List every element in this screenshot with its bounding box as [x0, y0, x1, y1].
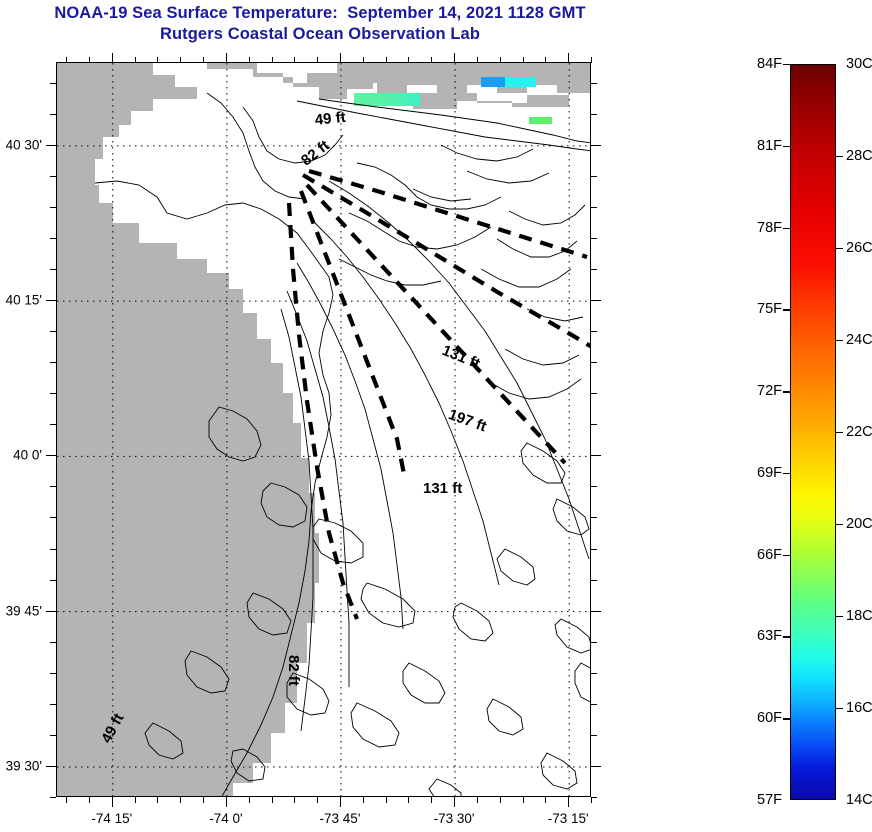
x-tick — [523, 57, 524, 63]
y-tick — [50, 735, 56, 736]
y-axis-label: 40 0' — [0, 448, 42, 463]
colorbar-celsius-label: 20C — [846, 516, 872, 532]
y-tick — [50, 580, 56, 581]
x-tick — [408, 797, 409, 803]
x-axis-label: -74 15' — [91, 811, 132, 826]
colorbar-celsius-label: 14C — [846, 792, 872, 808]
title-line-1: NOAA-19 Sea Surface Temperature: Septemb… — [0, 3, 640, 24]
x-axis-label: -74 0' — [209, 811, 242, 826]
x-tick — [180, 797, 181, 803]
x-tick — [294, 57, 295, 63]
x-tick — [135, 797, 136, 803]
colorbar-tick — [783, 718, 790, 719]
colorbar-tick — [836, 156, 843, 157]
colorbar-tick — [836, 248, 843, 249]
colorbar-tick — [836, 432, 843, 433]
y-tick — [591, 176, 597, 177]
colorbar-fahrenheit-label: 69F — [757, 465, 782, 481]
y-tick — [591, 83, 597, 84]
y-tick — [591, 486, 597, 487]
x-tick — [226, 797, 227, 807]
x-tick — [545, 57, 546, 63]
colorbar-celsius-label: 30C — [846, 56, 872, 72]
x-axis-ticks-top — [56, 51, 591, 63]
y-tick — [591, 797, 597, 798]
y-tick — [50, 238, 56, 239]
sst-colorbar: 30C28C26C24C22C20C18C16C14C 84F81F78F75F… — [790, 64, 836, 800]
y-tick — [591, 145, 601, 146]
sst-patch-central-sound — [505, 77, 536, 87]
y-tick — [591, 114, 597, 115]
x-tick — [477, 797, 478, 803]
y-tick — [46, 611, 56, 612]
y-tick — [46, 766, 56, 767]
y-tick — [50, 83, 56, 84]
x-tick — [66, 797, 67, 803]
chart-title: NOAA-19 Sea Surface Temperature: Septemb… — [0, 3, 640, 45]
x-tick — [272, 797, 273, 803]
colorbar-fahrenheit-label: 60F — [757, 710, 782, 726]
sst-patch-eastern-small — [529, 117, 552, 124]
colorbar-celsius-label: 28C — [846, 148, 872, 164]
colorbar-celsius-label: 16C — [846, 700, 872, 716]
y-tick — [591, 362, 597, 363]
x-axis-label: -73 30' — [434, 811, 475, 826]
y-tick — [50, 207, 56, 208]
sst-patch-western-sound — [481, 77, 505, 87]
x-tick — [226, 53, 227, 63]
cloud-edge-lines — [289, 171, 590, 619]
y-tick — [591, 642, 597, 643]
y-tick — [50, 362, 56, 363]
y-tick — [50, 176, 56, 177]
x-axis-ticks — [56, 797, 591, 809]
x-tick — [477, 57, 478, 63]
colorbar-tick — [836, 708, 843, 709]
colorbar-tick — [783, 309, 790, 310]
y-axis-ticks — [44, 62, 56, 797]
y-tick — [50, 704, 56, 705]
y-axis-ticks-right — [591, 62, 603, 797]
colorbar-fahrenheit-label: 66F — [757, 547, 782, 563]
colorbar-celsius-label: 22C — [846, 424, 872, 440]
x-tick — [523, 797, 524, 803]
x-tick — [112, 797, 113, 807]
y-tick — [591, 238, 597, 239]
x-tick — [317, 57, 318, 63]
y-tick — [591, 517, 597, 518]
x-tick — [363, 797, 364, 803]
colorbar-fahrenheit-label: 57F — [757, 792, 782, 808]
colorbar-celsius-label: 18C — [846, 608, 872, 624]
y-tick — [50, 673, 56, 674]
colorbar-tick — [783, 636, 790, 637]
x-tick — [454, 53, 455, 63]
x-tick — [66, 57, 67, 63]
x-tick — [568, 53, 569, 63]
colorbar-tick — [783, 146, 790, 147]
y-tick — [591, 300, 601, 301]
x-axis-label: -73 45' — [320, 811, 361, 826]
x-tick — [454, 797, 455, 807]
depth-label-131ft-lower: 131 ft — [423, 480, 462, 497]
y-tick — [591, 673, 597, 674]
y-tick — [591, 207, 597, 208]
colorbar-tick — [836, 616, 843, 617]
colorbar-celsius-label: 26C — [846, 240, 872, 256]
x-tick — [157, 797, 158, 803]
y-tick — [591, 393, 597, 394]
x-tick — [431, 57, 432, 63]
colorbar-celsius-label: 24C — [846, 332, 872, 348]
y-tick — [591, 704, 597, 705]
colorbar-fahrenheit-label: 78F — [757, 220, 782, 236]
x-tick — [249, 57, 250, 63]
y-tick — [50, 642, 56, 643]
map-clip — [57, 63, 590, 796]
sst-patch-raritan-bay — [354, 93, 420, 106]
x-tick — [340, 53, 341, 63]
y-tick — [591, 455, 601, 456]
y-tick — [50, 393, 56, 394]
colorbar-fahrenheit-label: 63F — [757, 628, 782, 644]
title-line-2: Rutgers Coastal Ocean Observation Lab — [0, 24, 640, 45]
x-tick — [545, 797, 546, 803]
map-graphics — [57, 63, 590, 796]
x-tick — [89, 57, 90, 63]
x-tick — [568, 797, 569, 807]
x-tick — [317, 797, 318, 803]
x-tick — [135, 57, 136, 63]
y-tick — [591, 580, 597, 581]
y-tick — [50, 114, 56, 115]
y-tick — [591, 766, 601, 767]
x-tick — [500, 797, 501, 803]
y-tick — [50, 517, 56, 518]
y-tick — [46, 145, 56, 146]
x-tick — [386, 797, 387, 803]
land-mass-new-jersey — [57, 63, 590, 796]
y-axis-label: 39 45' — [0, 603, 42, 618]
depth-label-49ft-north: 49 ft — [314, 109, 346, 129]
y-tick — [591, 331, 597, 332]
y-axis-label: 40 30' — [0, 137, 42, 152]
colorbar-fahrenheit-label: 72F — [757, 383, 782, 399]
colorbar-tick — [783, 391, 790, 392]
y-tick — [50, 424, 56, 425]
x-tick — [89, 797, 90, 803]
colorbar-tick — [836, 524, 843, 525]
y-tick — [50, 549, 56, 550]
x-tick — [180, 57, 181, 63]
y-axis-label: 39 30' — [0, 758, 42, 773]
y-tick — [591, 424, 597, 425]
y-tick — [46, 300, 56, 301]
x-tick — [386, 57, 387, 63]
y-tick — [591, 269, 597, 270]
y-tick — [50, 797, 56, 798]
x-tick — [294, 797, 295, 803]
x-tick — [340, 797, 341, 807]
colorbar-fahrenheit-label: 84F — [757, 56, 782, 72]
colorbar-tick — [836, 340, 843, 341]
y-tick — [591, 611, 601, 612]
y-axis-label: 40 15' — [0, 293, 42, 308]
y-tick — [46, 455, 56, 456]
x-tick — [272, 57, 273, 63]
x-tick — [112, 53, 113, 63]
sst-map-plot-area — [56, 62, 591, 797]
x-tick — [408, 57, 409, 63]
x-tick — [500, 57, 501, 63]
x-tick — [157, 57, 158, 63]
y-tick — [50, 269, 56, 270]
x-tick — [431, 797, 432, 803]
x-tick — [363, 57, 364, 63]
depth-label-82ft-south: 82 ft — [285, 655, 302, 686]
x-tick — [203, 797, 204, 803]
colorbar-fahrenheit-label: 81F — [757, 138, 782, 154]
x-tick — [203, 57, 204, 63]
y-tick — [50, 331, 56, 332]
x-axis-label: -73 15' — [548, 811, 589, 826]
colorbar-tick — [783, 555, 790, 556]
colorbar-tick — [783, 228, 790, 229]
colorbar-tick — [783, 473, 790, 474]
y-tick — [50, 486, 56, 487]
x-tick — [249, 797, 250, 803]
colorbar-tick — [783, 64, 790, 65]
colorbar-fahrenheit-label: 75F — [757, 301, 782, 317]
colorbar-gradient — [790, 64, 836, 800]
y-tick — [591, 735, 597, 736]
y-tick — [591, 549, 597, 550]
